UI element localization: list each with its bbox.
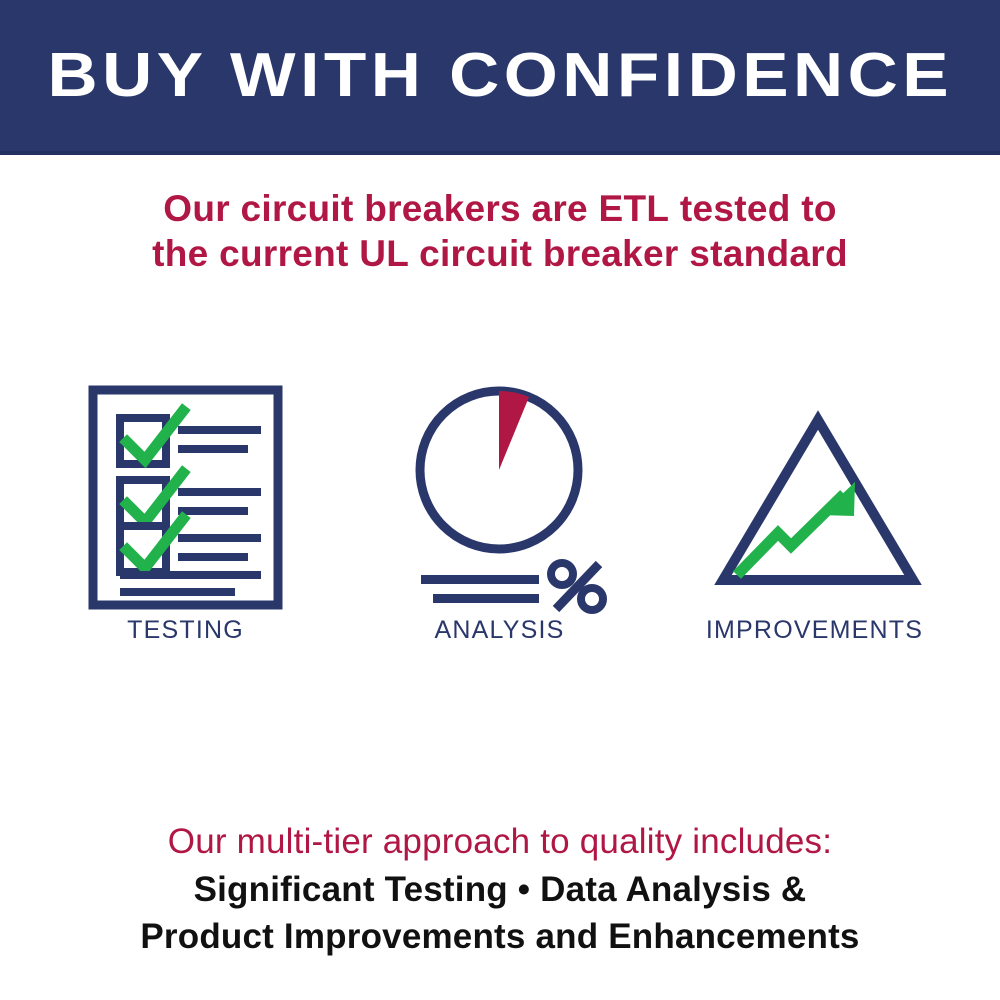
bottom-lead-text: Our multi-tier approach to quality inclu… bbox=[0, 820, 1000, 865]
subtitle-line-1-emphasis: ETL bbox=[599, 188, 670, 229]
feature-item-testing: TESTING bbox=[19, 370, 352, 690]
subtitle-line-1-pre: Our circuit breakers are bbox=[163, 188, 598, 229]
feature-item-improvements: IMPROVEMENTS bbox=[648, 370, 981, 690]
subtitle-line-2-emphasis: UL circuit breaker standard bbox=[359, 233, 848, 274]
triangle-growth-arrow-icon bbox=[648, 370, 981, 615]
feature-label-improvements: IMPROVEMENTS bbox=[648, 616, 981, 645]
feature-icon-row: TESTING ANALYSIS bbox=[0, 370, 1000, 690]
subtitle-line-1: Our circuit breakers are ETL tested to bbox=[0, 186, 1000, 231]
feature-item-analysis: ANALYSIS bbox=[333, 370, 666, 690]
feature-label-testing: TESTING bbox=[19, 616, 352, 645]
subtitle-line-2: the current UL circuit breaker standard bbox=[0, 231, 1000, 276]
bottom-emphasis-line-2: Product Improvements and Enhancements bbox=[0, 914, 1000, 960]
subtitle-block: Our circuit breakers are ETL tested to t… bbox=[0, 186, 1000, 276]
subtitle-line-2-pre: the current bbox=[152, 233, 359, 274]
bottom-text-block: Our multi-tier approach to quality inclu… bbox=[0, 820, 1000, 960]
subtitle-line-1-post: tested to bbox=[669, 188, 836, 229]
bottom-emphasis-line-1: Significant Testing • Data Analysis & bbox=[0, 867, 1000, 913]
header-banner: BUY WITH CONFIDENCE bbox=[0, 0, 1000, 155]
pie-chart-icon bbox=[333, 370, 666, 615]
feature-label-analysis: ANALYSIS bbox=[333, 616, 666, 645]
checklist-document-icon bbox=[19, 370, 352, 615]
page-title: BUY WITH CONFIDENCE bbox=[47, 45, 953, 107]
